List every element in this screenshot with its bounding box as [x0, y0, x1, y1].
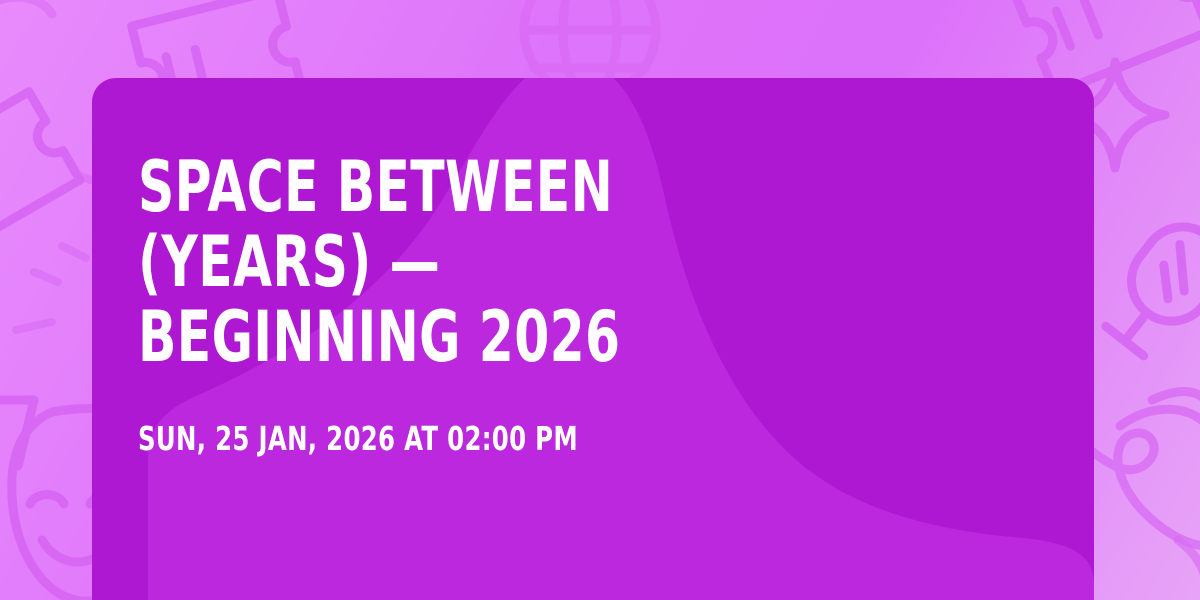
event-card: Space Between (Years) — Beginning 2026 S… [92, 78, 1094, 600]
confetti-dash-icon [16, 176, 96, 330]
confetti-streamer-icon [0, 0, 52, 14]
ticket-icon [0, 92, 80, 250]
confetti-streamer-icon [1178, 540, 1200, 600]
event-banner: Space Between (Years) — Beginning 2026 S… [0, 0, 1200, 600]
card-content: Space Between (Years) — Beginning 2026 S… [138, 150, 1054, 457]
microphone-icon [1093, 211, 1200, 366]
event-datetime: Sun, 25 Jan, 2026 at 02:00 PM [138, 421, 816, 457]
event-title: Space Between (Years) — Beginning 2026 [138, 150, 798, 375]
